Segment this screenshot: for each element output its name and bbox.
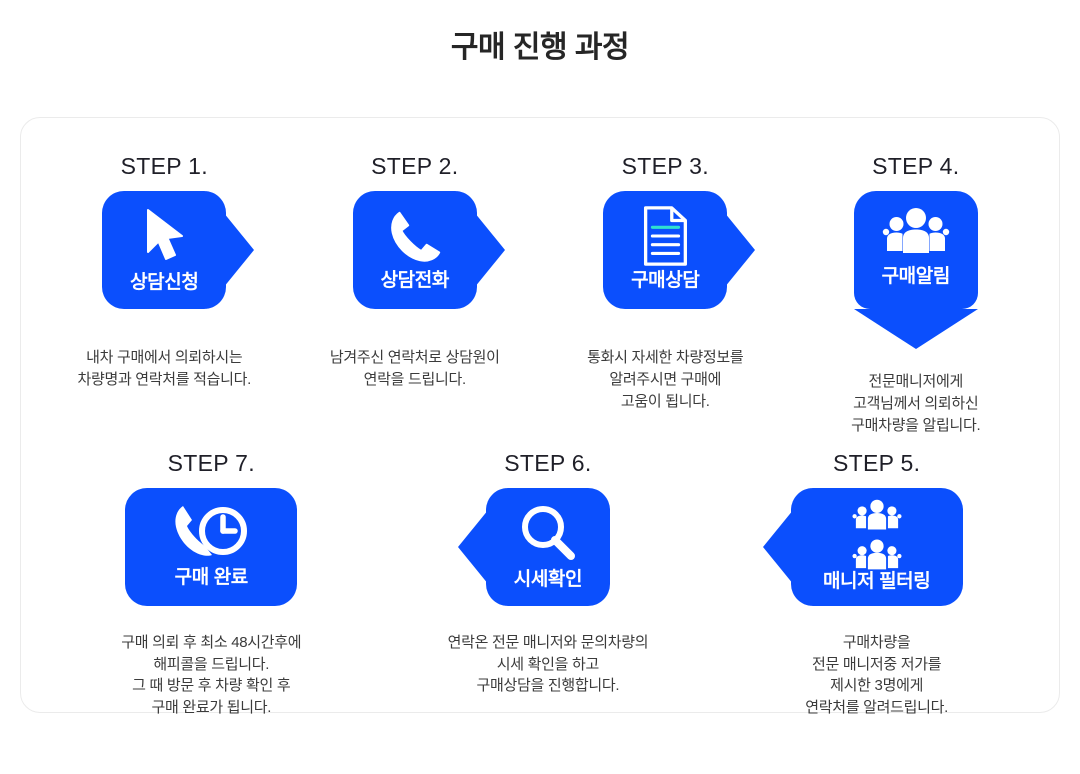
- step-title-1: STEP 1.: [121, 154, 208, 179]
- step-badge-label-5: 매니저 필터링: [823, 572, 930, 591]
- step-badge-3[interactable]: 구매상담: [603, 191, 727, 309]
- step-title-6: STEP 6.: [504, 451, 591, 476]
- process-flow-card: STEP 1. 상담신청 내차 구매에서 의뢰하시는 차량명과 연락처를 적습니…: [20, 117, 1060, 713]
- people-group-icon: [881, 205, 951, 265]
- magnifier-icon: [517, 502, 579, 564]
- step-description-1: 내차 구매에서 의뢰하시는 차량명과 연락처를 적습니다.: [77, 347, 251, 391]
- step-title-5: STEP 5.: [833, 451, 920, 476]
- step-badge-7[interactable]: 구매 완료: [125, 488, 297, 606]
- arrow-tip-left-icon: [458, 488, 506, 606]
- badge-wrap-3: 구매상담: [546, 191, 785, 309]
- step-badge-4[interactable]: 구매알림: [854, 191, 978, 309]
- step-description-3: 통화시 자세한 차량정보를 알려주시면 구매에 고움이 됩니다.: [587, 347, 743, 412]
- document-icon: [639, 205, 691, 267]
- step-description-5: 구매차량을 전문 매니저중 저가를 제시한 3명에게 연락처를 알려드립니다.: [805, 632, 948, 719]
- flow-row-top: STEP 1. 상담신청 내차 구매에서 의뢰하시는 차량명과 연락처를 적습니…: [21, 118, 1059, 437]
- badge-wrap-1: 상담신청: [45, 191, 284, 309]
- page-title: 구매 진행 과정: [0, 0, 1080, 48]
- phone-icon: [384, 205, 446, 267]
- step-badge-label-7: 구매 완료: [175, 568, 248, 587]
- step-badge-label-2: 상담전화: [381, 271, 449, 290]
- badge-wrap-4: 구매알림: [797, 191, 1036, 309]
- step-badge-label-1: 상담신청: [130, 273, 198, 292]
- step-badge-label-6: 시세확인: [514, 570, 582, 589]
- step-title-4: STEP 4.: [872, 154, 959, 179]
- cursor-arrow-icon: [134, 205, 194, 267]
- step-card-2[interactable]: STEP 2. 상담전화 남겨주신 연락처로 상담원이 연락을 드립니다.: [290, 154, 541, 391]
- step-description-6: 연락온 전문 매니저와 문의차량의 시세 확인을 하고 구매상담을 진행합니다.: [448, 632, 649, 697]
- arrow-tip-down-icon: [854, 309, 978, 349]
- arrow-tip-right-icon: [707, 191, 755, 309]
- arrow-tip-right-icon: [206, 191, 254, 309]
- step-card-3[interactable]: STEP 3. 구매상담: [540, 154, 791, 413]
- phone-clock-icon: [169, 502, 253, 562]
- arrow-tip-right-icon: [457, 191, 505, 309]
- step-description-4: 전문매니저에게 고객님께서 의뢰하신 구매차량을 알립니다.: [851, 371, 980, 436]
- step-badge-label-3: 구매상담: [631, 271, 699, 290]
- step-card-7[interactable]: STEP 7. 구매 완료 구매 의뢰 후 최소 48시간후에 해: [39, 451, 384, 719]
- step-badge-1[interactable]: 상담신청: [102, 191, 226, 309]
- step-badge-5[interactable]: 매니저 필터링: [791, 488, 963, 606]
- step-badge-label-4: 구매알림: [882, 267, 950, 286]
- step-badge-6[interactable]: 시세확인: [486, 488, 610, 606]
- badge-wrap-7: 구매 완료: [45, 488, 378, 606]
- step-title-7: STEP 7.: [168, 451, 255, 476]
- badge-wrap-6: 시세확인: [390, 488, 707, 606]
- people-group-double-icon: [848, 498, 906, 576]
- step-description-2: 남겨주신 연락처로 상담원이 연락을 드립니다.: [330, 347, 500, 391]
- step-card-6[interactable]: STEP 6. 시세확인 연락온 전문 매니저와 문의차량의 시세 확인을 하고…: [384, 451, 713, 698]
- badge-wrap-2: 상담전화: [296, 191, 535, 309]
- step-badge-2[interactable]: 상담전화: [353, 191, 477, 309]
- arrow-tip-left-icon: [763, 488, 811, 606]
- step-title-3: STEP 3.: [622, 154, 709, 179]
- flow-row-bottom: STEP 7. 구매 완료 구매 의뢰 후 최소 48시간후에 해: [21, 437, 1059, 719]
- step-card-4[interactable]: STEP 4.: [791, 154, 1042, 437]
- step-card-5[interactable]: STEP 5.: [712, 451, 1041, 719]
- step-title-2: STEP 2.: [371, 154, 458, 179]
- step-description-7: 구매 의뢰 후 최소 48시간후에 해피콜을 드립니다. 그 때 방문 후 차량…: [121, 632, 301, 719]
- step-card-1[interactable]: STEP 1. 상담신청 내차 구매에서 의뢰하시는 차량명과 연락처를 적습니…: [39, 154, 290, 391]
- badge-wrap-5: 매니저 필터링: [718, 488, 1035, 606]
